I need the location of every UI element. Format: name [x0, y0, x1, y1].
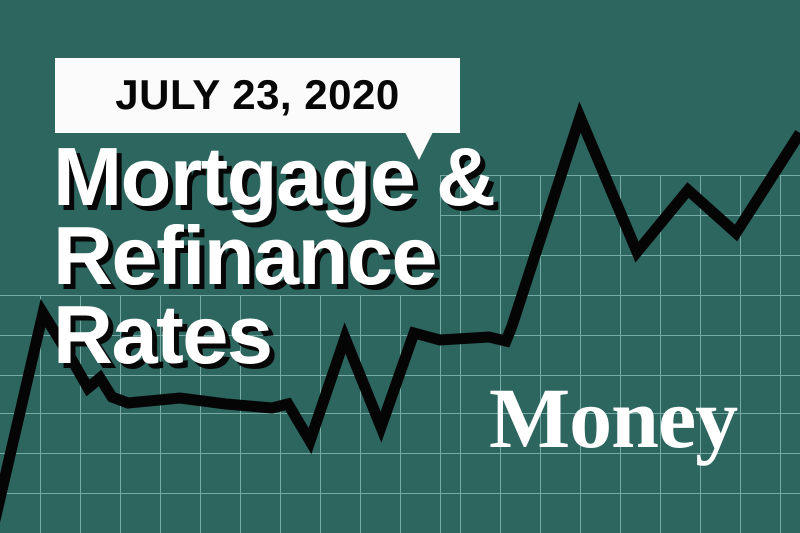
- page-title-line-1: Mortgage &: [53, 138, 613, 217]
- page-title: Mortgage & Refinance Rates: [53, 138, 613, 375]
- page-title-line-2: Refinance: [53, 217, 613, 296]
- date-banner: JULY 23, 2020: [55, 58, 460, 133]
- page-title-line-3: Rates: [53, 296, 613, 375]
- date-banner-label: JULY 23, 2020: [115, 74, 399, 118]
- mortgage-rates-graphic: JULY 23, 2020 Mortgage & Refinance Rates…: [0, 0, 800, 533]
- money-logo: Money: [489, 375, 737, 461]
